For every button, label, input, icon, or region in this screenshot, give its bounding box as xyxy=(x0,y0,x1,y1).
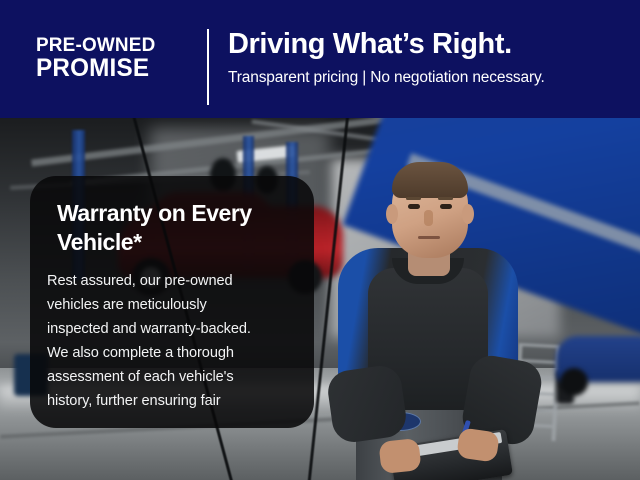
technician-arm xyxy=(325,363,408,445)
header-content: PRE-OWNED PROMISE Driving What’s Right. … xyxy=(0,0,640,118)
header-bar: PRE-OWNED PROMISE Driving What’s Right. … xyxy=(0,0,640,118)
header-subheadline: Transparent pricing | No negotiation nec… xyxy=(228,69,628,87)
brand-line-1: PRE-OWNED xyxy=(36,36,191,55)
technician-mouth xyxy=(418,236,440,239)
promo-banner-screenshot: Warranty on Every Vehicle* Rest assured,… xyxy=(0,0,640,480)
card-body-line: Rest assured, our pre-owned xyxy=(47,270,305,294)
card-body-line: We also complete a thorough xyxy=(47,342,305,366)
card-body-line: vehicles are meticulously xyxy=(47,294,305,318)
warranty-info-card: Warranty on Every Vehicle* Rest assured,… xyxy=(30,176,314,428)
header-divider xyxy=(207,29,209,105)
card-title: Warranty on Every Vehicle* xyxy=(57,199,297,258)
technician-eye xyxy=(408,204,420,209)
technician-eye xyxy=(440,204,452,209)
pre-owned-promise-logo: PRE-OWNED PROMISE xyxy=(36,36,196,81)
technician-eyebrow xyxy=(406,197,421,200)
card-title-line-2: Vehicle* xyxy=(57,229,142,255)
technician-eyebrow xyxy=(438,197,453,200)
technician-ear xyxy=(462,204,474,224)
card-title-line-1: Warranty on Every xyxy=(57,200,252,226)
card-body-line: history, further ensuring fair xyxy=(47,390,305,414)
technician-nose xyxy=(424,210,433,226)
technician-hair xyxy=(392,162,468,198)
header-text-block: Driving What’s Right. Transparent pricin… xyxy=(228,28,628,87)
technician-hand xyxy=(378,438,421,474)
card-body-text: Rest assured, our pre-owned vehicles are… xyxy=(47,270,305,414)
technician-ear xyxy=(386,204,398,224)
header-headline: Driving What’s Right. xyxy=(228,28,628,60)
card-body-line: inspected and warranty-backed. xyxy=(47,318,305,342)
brand-line-2: PROMISE xyxy=(36,56,191,81)
card-body-line: assessment of each vehicle's xyxy=(47,366,305,390)
